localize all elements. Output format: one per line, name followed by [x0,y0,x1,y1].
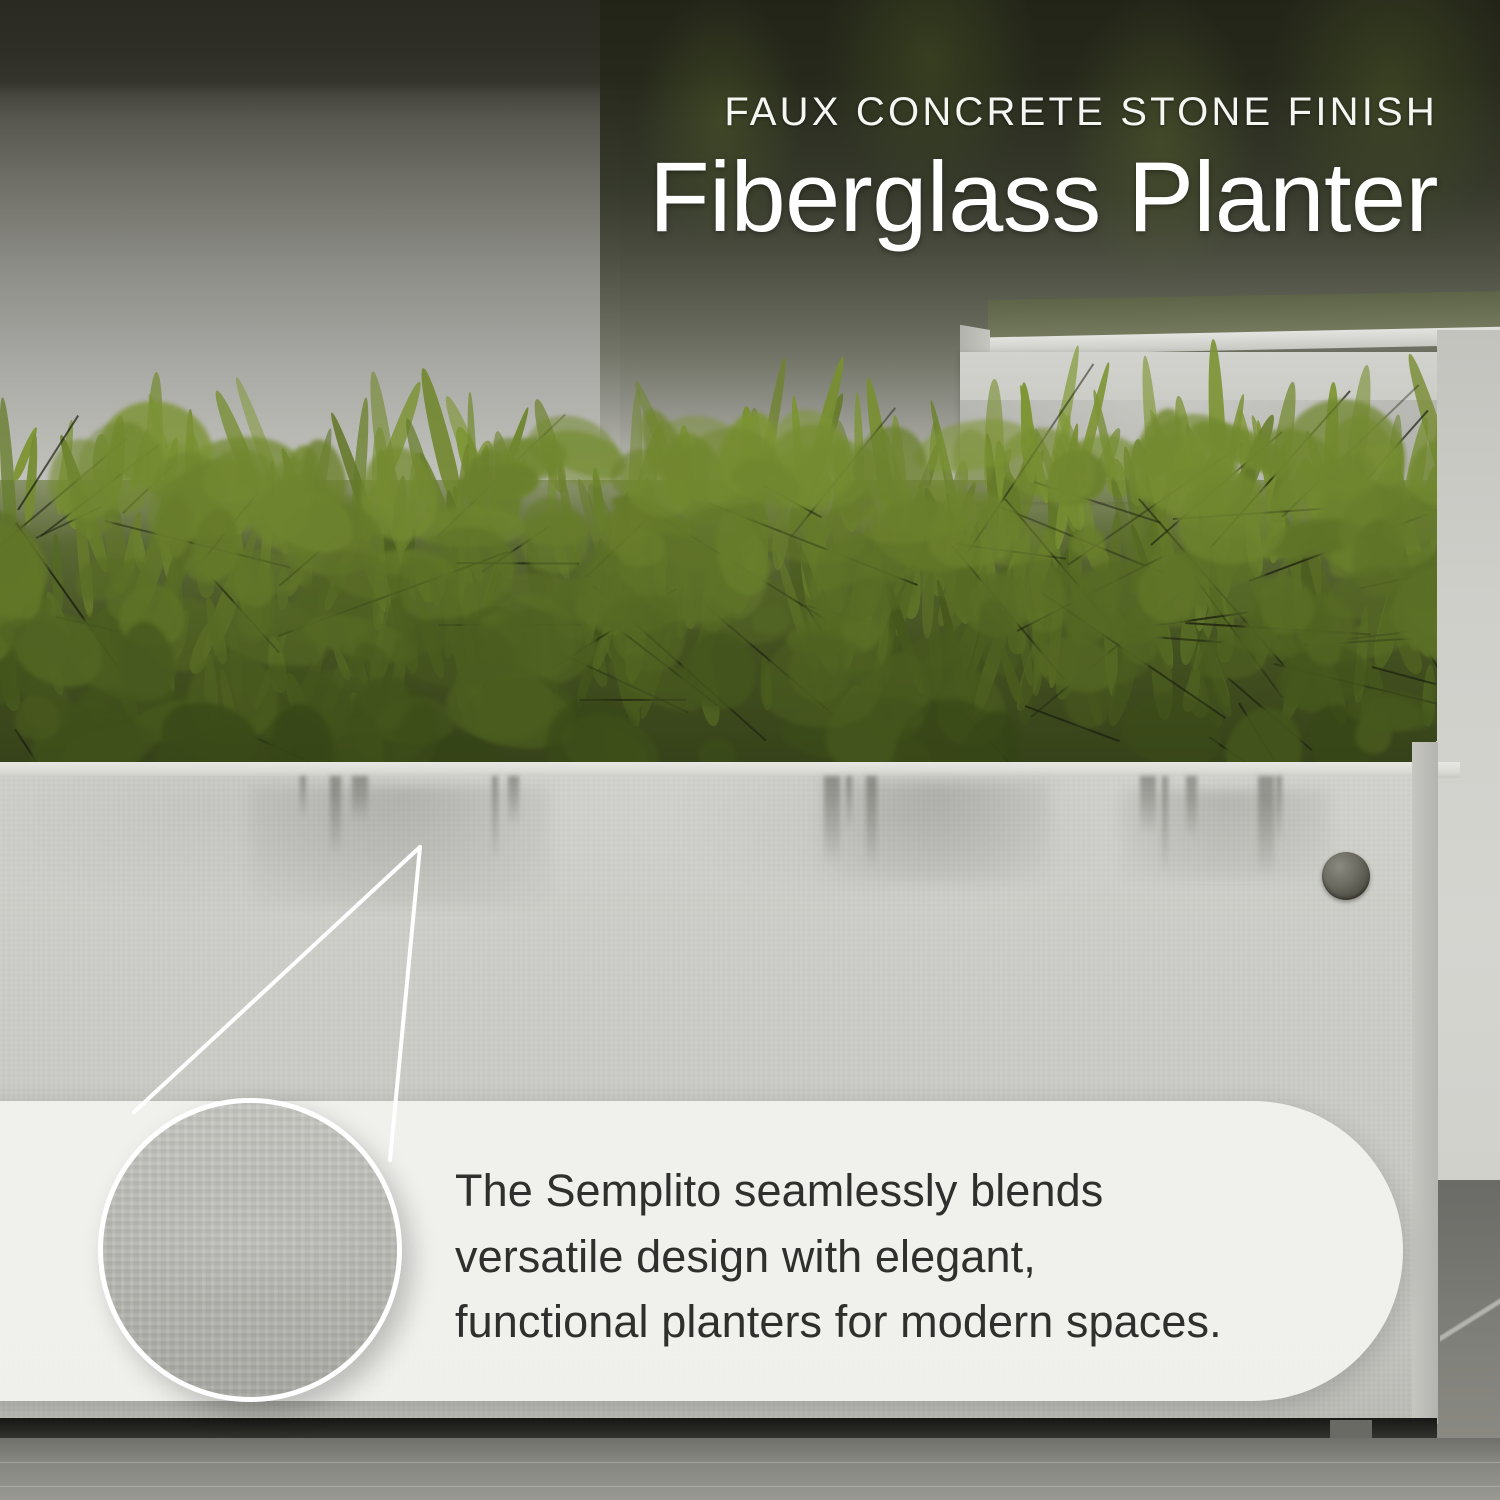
description-line-1: The Semplito seamlessly blends [455,1158,1355,1224]
headline-block: FAUX CONCRETE STONE FINISH Fiberglass Pl… [0,92,1438,249]
planter-right-side [1412,742,1438,1424]
description-line-2: versatile design with elegant, [455,1224,1355,1290]
page-title: Fiberglass Planter [0,146,1438,249]
description-line-3: functional planters for modern spaces. [455,1289,1355,1355]
product-marketing-image: FAUX CONCRETE STONE FINISH Fiberglass Pl… [0,0,1500,1500]
magnifier-circle-icon [98,1098,402,1402]
drain-plug-icon [1322,852,1370,900]
planter-weather-streaks [0,776,1437,956]
magnifier-stone-detail [103,1103,397,1397]
hedge-foliage [0,330,1500,775]
description-text: The Semplito seamlessly blends versatile… [455,1158,1355,1355]
floor-grout-line [1440,1200,1500,1440]
eyebrow-text: FAUX CONCRETE STONE FINISH [0,92,1438,132]
floor [0,1438,1500,1500]
